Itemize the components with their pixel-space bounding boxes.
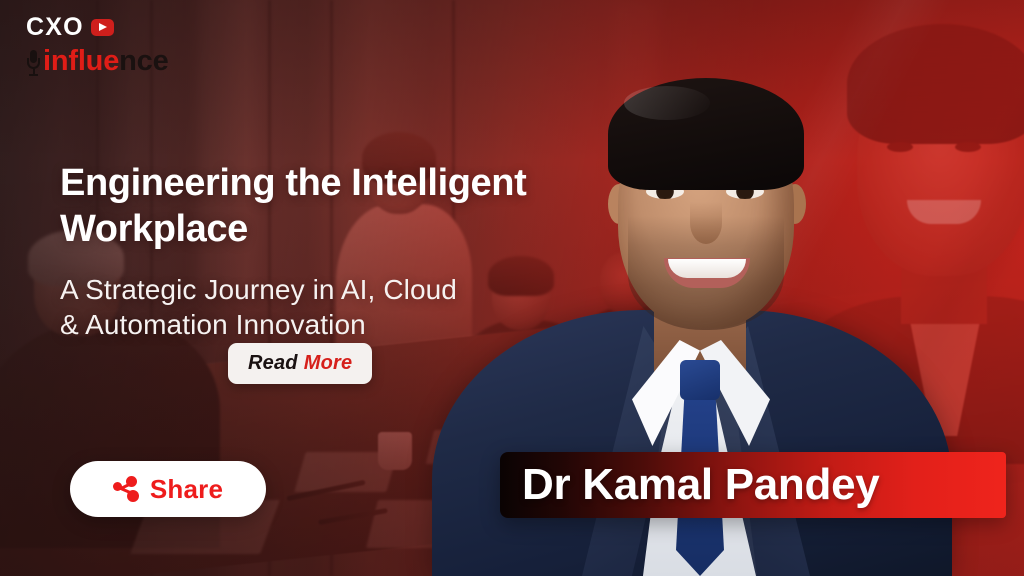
subheadline: A Strategic Journey in AI, Cloud & Autom… — [60, 272, 480, 342]
play-icon — [91, 19, 114, 36]
share-label: Share — [150, 474, 223, 505]
logo-nce-dark: nce — [119, 45, 168, 77]
share-button[interactable]: Share — [70, 461, 266, 517]
teeth — [668, 259, 746, 278]
logo-top-row: CXO — [26, 12, 194, 42]
speaker-name: Dr Kamal Pandey — [522, 460, 879, 510]
microphone-icon — [26, 50, 41, 76]
tie-knot — [680, 360, 720, 400]
read-more-label-primary: Read — [248, 352, 298, 375]
headline: Engineering the Intelligent Workplace — [60, 160, 580, 252]
read-more-label-accent: More — [304, 352, 353, 375]
logo-influence-text: influence — [43, 47, 169, 76]
speaker-name-banner: Dr Kamal Pandey — [500, 452, 1006, 518]
share-nodes-icon — [113, 476, 139, 502]
nose — [690, 202, 722, 244]
logo-cxo-text: CXO — [26, 15, 84, 40]
promo-banner: CXO influence Engineering the Intelligen… — [0, 0, 1024, 576]
ghost-eye — [955, 142, 981, 152]
hair — [608, 78, 804, 190]
cxo-influence-logo[interactable]: CXO influence — [26, 12, 194, 78]
read-more-button[interactable]: Read More — [228, 343, 372, 384]
logo-bottom-row: influence — [26, 44, 194, 76]
logo-influe-red: influe — [43, 45, 119, 77]
